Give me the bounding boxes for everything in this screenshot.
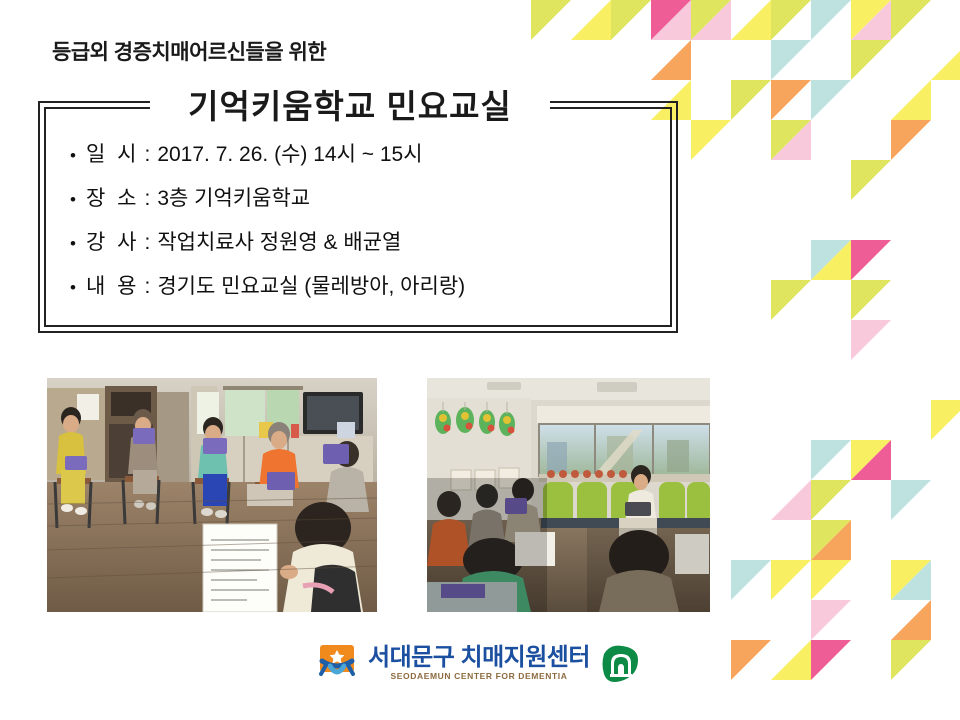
decorative-triangle <box>811 240 851 280</box>
bullet-icon: • <box>70 235 86 252</box>
decorative-triangle <box>891 600 931 640</box>
decorative-triangle <box>691 0 731 40</box>
decorative-triangle <box>771 0 811 40</box>
detail-row: •일 시:2017. 7. 26. (수) 14시 ~ 15시 <box>70 138 670 168</box>
detail-label: 장 소 <box>86 182 139 212</box>
poster-canvas: 등급외 경증치매어르신들을 위한 기억키움학교 민요교실 •일 시:2017. … <box>0 0 960 720</box>
decorative-triangle <box>651 40 691 80</box>
decorative-triangle <box>731 560 771 600</box>
photo-group-singing-left <box>47 378 377 612</box>
detail-row: •장 소:3층 기억키움학교 <box>70 182 670 212</box>
decorative-triangle <box>771 640 811 680</box>
decorative-triangle <box>731 80 771 120</box>
decorative-triangle <box>771 480 811 520</box>
decorative-triangle <box>771 40 811 80</box>
detail-value: 작업치료사 정원영 & 배균열 <box>157 226 401 256</box>
decorative-triangle <box>771 120 811 160</box>
decorative-triangle <box>851 40 891 80</box>
bullet-icon: • <box>70 147 86 164</box>
decorative-triangle <box>771 280 811 320</box>
detail-value: 3층 기억키움학교 <box>157 182 310 212</box>
decorative-triangle <box>651 0 691 40</box>
decorative-triangle <box>811 480 851 520</box>
decorative-triangle <box>651 0 691 40</box>
decorative-triangle <box>851 0 891 40</box>
detail-separator: : <box>144 143 150 167</box>
decorative-triangle <box>811 520 851 560</box>
details-list: •일 시:2017. 7. 26. (수) 14시 ~ 15시•장 소:3층 기… <box>70 138 670 314</box>
logo-title: 서대문구 치매지원센터 <box>368 645 590 670</box>
decorative-triangle <box>811 240 851 280</box>
decorative-triangle <box>851 440 891 480</box>
decorative-triangle <box>851 320 891 360</box>
decorative-triangle <box>811 640 851 680</box>
decorative-triangle <box>931 40 960 80</box>
decorative-triangle <box>851 280 891 320</box>
detail-value: 경기도 민요교실 (물레방아, 아리랑) <box>157 270 465 300</box>
decorative-triangle <box>571 0 611 40</box>
detail-separator: : <box>144 187 150 211</box>
photo-right-illustration <box>427 378 710 612</box>
organization-logo: 서대문구 치매지원센터 SEODAEMUN CENTER FOR DEMENTI… <box>318 641 644 685</box>
decorative-triangle <box>811 520 851 560</box>
decorative-triangle <box>851 240 891 280</box>
green-gate-circle-icon <box>598 642 644 684</box>
decorative-triangle <box>851 160 891 200</box>
decorative-triangle <box>891 480 931 520</box>
decorative-triangle <box>891 640 931 680</box>
decorative-triangle <box>731 640 771 680</box>
detail-label: 강 사 <box>86 226 139 256</box>
bullet-icon: • <box>70 279 86 296</box>
decorative-triangle <box>611 0 651 40</box>
logo-text: 서대문구 치매지원센터 SEODAEMUN CENTER FOR DEMENTI… <box>368 645 590 681</box>
decorative-triangle <box>771 560 811 600</box>
decorative-triangle <box>811 0 851 40</box>
decorative-triangle <box>531 0 571 40</box>
decorative-triangle <box>891 560 931 600</box>
decorative-triangle <box>811 560 851 600</box>
decorative-triangle <box>891 80 931 120</box>
decorative-triangle <box>811 440 851 480</box>
decorative-triangle <box>771 120 811 160</box>
detail-separator: : <box>144 275 150 299</box>
detail-row: •강 사:작업치료사 정원영 & 배균열 <box>70 226 670 256</box>
decorative-triangle <box>691 0 731 40</box>
photo-group-singing-right <box>427 378 710 612</box>
decorative-triangle <box>731 0 771 40</box>
decorative-triangle <box>851 440 891 480</box>
person-star-square-icon <box>318 644 360 682</box>
detail-row: •내 용:경기도 민요교실 (물레방아, 아리랑) <box>70 270 670 300</box>
decorative-triangle <box>891 560 931 600</box>
decorative-triangle <box>811 80 851 120</box>
detail-value: 2017. 7. 26. (수) 14시 ~ 15시 <box>157 138 422 168</box>
decorative-triangle <box>851 0 891 40</box>
decorative-triangle <box>811 600 851 640</box>
logo-subtitle: SEODAEMUN CENTER FOR DEMENTIA <box>368 671 590 681</box>
decorative-triangle <box>931 400 960 440</box>
decorative-triangle <box>891 0 931 40</box>
detail-label: 일 시 <box>86 138 139 168</box>
bullet-icon: • <box>70 191 86 208</box>
decorative-triangle <box>771 80 811 120</box>
decorative-triangle <box>891 120 931 160</box>
poster-kicker: 등급외 경증치매어르신들을 위한 <box>52 36 326 66</box>
page-title: 기억키움학교 민요교실 <box>0 80 700 128</box>
photo-left-illustration <box>47 378 377 612</box>
detail-label: 내 용 <box>86 270 139 300</box>
detail-separator: : <box>144 231 150 255</box>
